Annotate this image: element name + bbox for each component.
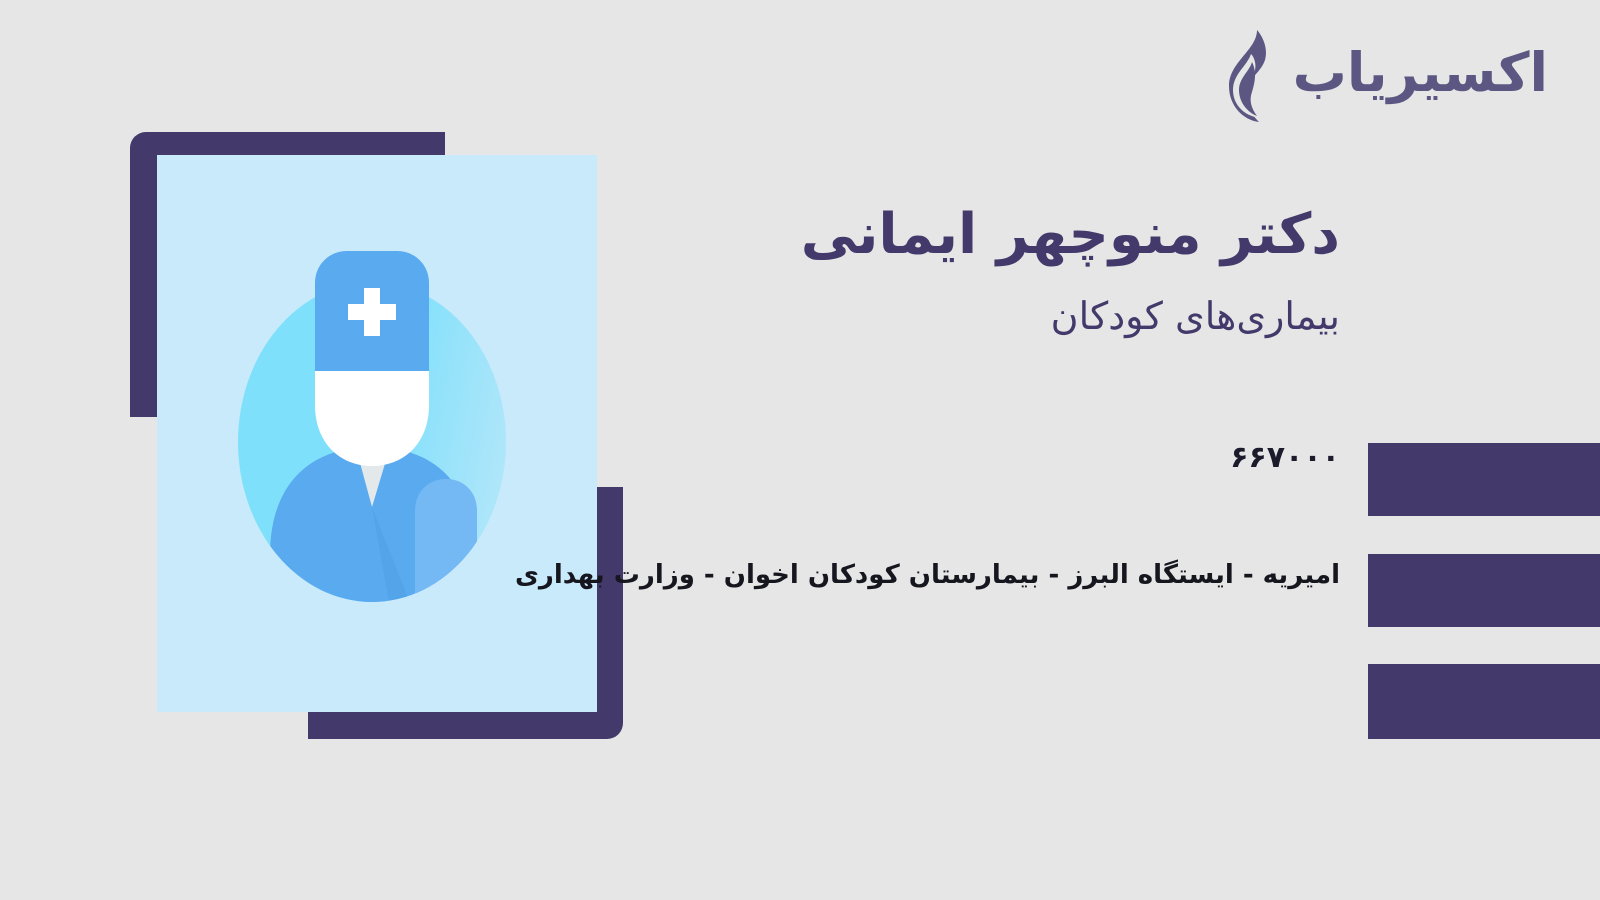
doctor-illustration (0, 0, 700, 900)
doctor-code: ۶۶۷۰۰۰ (1230, 440, 1340, 475)
doctor-avatar-icon (238, 282, 506, 602)
profile-card-canvas: اکسیریاب (0, 0, 1600, 900)
brand-wordmark: اکسیریاب (1293, 46, 1548, 106)
flame-droplet-icon (1207, 28, 1283, 124)
decorative-bar-2 (1368, 554, 1600, 627)
decorative-bar-3 (1368, 664, 1600, 739)
doctor-address: امیریه - ایستگاه البرز - بیمارستان کودکا… (640, 556, 1340, 595)
decorative-bar-1 (1368, 443, 1600, 516)
doctor-specialty: بیماری‌های کودکان (620, 288, 1340, 345)
doctor-info-panel: دکتر منوچهر ایمانی بیماری‌های کودکان (620, 200, 1340, 345)
decorative-bar-stack (1368, 443, 1600, 739)
brand-logo[interactable]: اکسیریاب (1207, 26, 1548, 126)
doctor-name: دکتر منوچهر ایمانی (620, 200, 1340, 270)
